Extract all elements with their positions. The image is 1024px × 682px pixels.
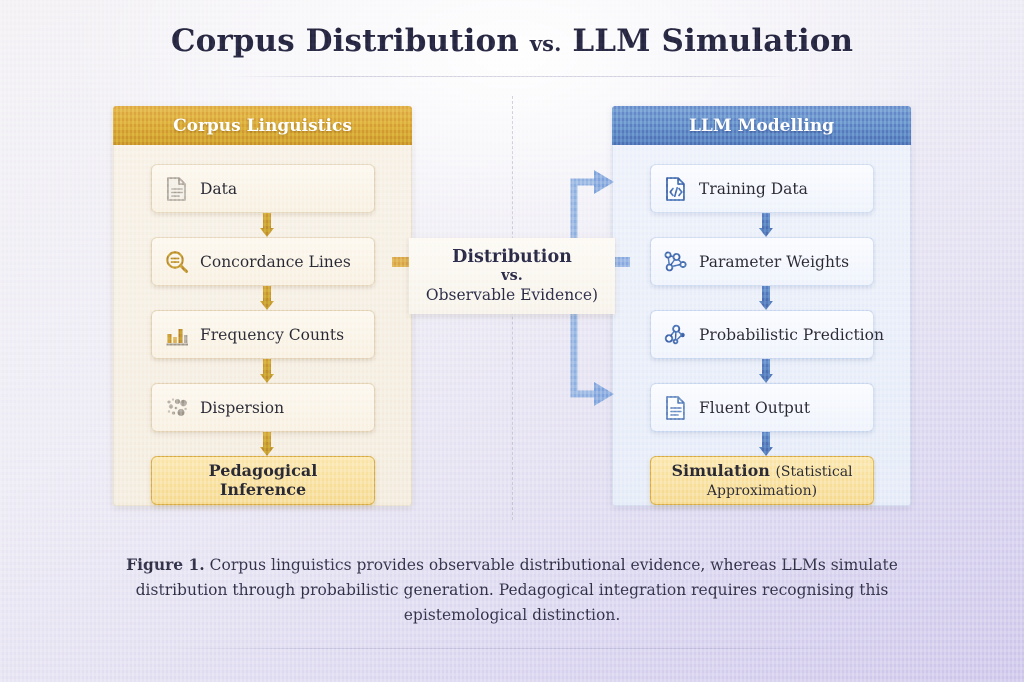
title-divider — [232, 76, 792, 77]
node-label: Pedagogical Inference — [164, 462, 362, 499]
node-parameter-weights[interactable]: Parameter Weights — [650, 237, 874, 286]
node-pedagogical-inference[interactable]: Pedagogical Inference — [151, 456, 375, 505]
document-icon — [663, 395, 689, 421]
flow-arrow — [260, 213, 274, 237]
page-title: Corpus Distribution vs. LLM Simulation — [0, 23, 1024, 59]
node-label: Training Data — [699, 180, 808, 198]
corpus-linguistics-header: Corpus Linguistics — [113, 106, 412, 145]
flow-arrow — [759, 359, 773, 383]
node-data[interactable]: Data — [151, 164, 375, 213]
node-label: Probabilistic Prediction — [699, 326, 884, 344]
node-fluent-output[interactable]: Fluent Output — [650, 383, 874, 432]
center-contrast-box: Distribution vs. Observable Evidence) — [409, 238, 615, 314]
magnifier-icon — [164, 249, 190, 275]
caption-prefix: Figure 1. — [126, 555, 205, 574]
center-line-2: vs. — [501, 267, 523, 285]
flow-arrow — [260, 286, 274, 310]
title-left: Corpus Distribution — [171, 23, 519, 59]
node-label: Concordance Lines — [200, 253, 351, 271]
simulation-bold: Simulation — [671, 461, 769, 480]
figure-canvas: Corpus Distribution vs. LLM Simulation C… — [0, 0, 1024, 682]
flow-arrow — [759, 213, 773, 237]
title-vs: vs. — [530, 31, 562, 56]
flow-arrow — [260, 432, 274, 456]
flow-arrow — [759, 286, 773, 310]
scatter-dots-icon — [164, 395, 190, 421]
bar-chart-icon — [164, 322, 190, 348]
document-icon — [164, 176, 190, 202]
flow-arrow — [260, 359, 274, 383]
node-training-data[interactable]: Training Data — [650, 164, 874, 213]
node-frequency-counts[interactable]: Frequency Counts — [151, 310, 375, 359]
caption-text: Corpus linguistics provides observable d… — [136, 556, 898, 624]
llm-modelling-header: LLM Modelling — [612, 106, 911, 145]
node-label: Simulation (Statistical Approximation) — [663, 462, 861, 499]
node-probabilistic-prediction[interactable]: Probabilistic Prediction — [650, 310, 874, 359]
corpus-linguistics-panel: Corpus Linguistics Data Concordance Line… — [113, 106, 412, 506]
node-dispersion[interactable]: Dispersion — [151, 383, 375, 432]
node-label: Parameter Weights — [699, 253, 849, 271]
network-prediction-icon — [663, 322, 689, 348]
center-line-3: Observable Evidence) — [426, 286, 598, 305]
title-right: LLM Simulation — [572, 23, 853, 59]
flow-arrow — [759, 432, 773, 456]
node-label: Frequency Counts — [200, 326, 344, 344]
node-concordance-lines[interactable]: Concordance Lines — [151, 237, 375, 286]
figure-caption: Figure 1. Corpus linguistics provides ob… — [112, 552, 912, 628]
node-label: Fluent Output — [699, 399, 810, 417]
node-label: Data — [200, 180, 237, 198]
network-nodes-icon — [663, 249, 689, 275]
llm-modelling-panel: LLM Modelling Training Data Parameter We… — [612, 106, 911, 506]
node-label: Dispersion — [200, 399, 284, 417]
code-document-icon — [663, 176, 689, 202]
center-line-1: Distribution — [452, 248, 572, 268]
caption-divider — [170, 648, 854, 649]
node-simulation[interactable]: Simulation (Statistical Approximation) — [650, 456, 874, 505]
